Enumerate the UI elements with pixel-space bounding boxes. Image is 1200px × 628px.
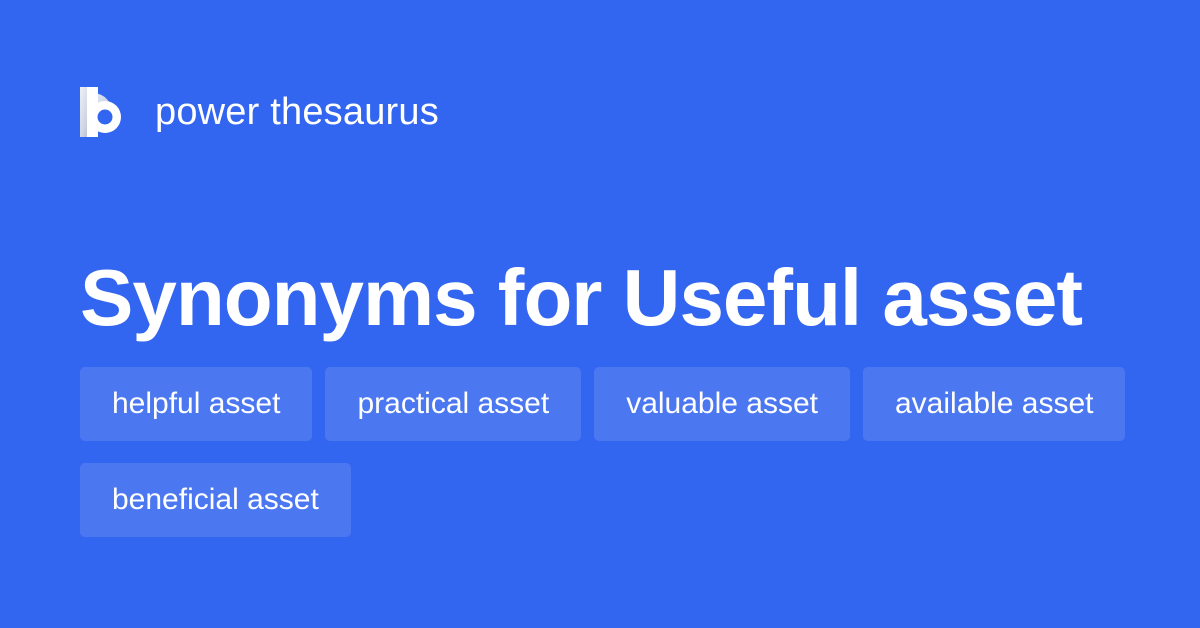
synonym-chip-list: helpful asset practical asset valuable a… bbox=[80, 367, 1130, 537]
synonym-chip[interactable]: valuable asset bbox=[594, 367, 850, 441]
page-title: Synonyms for Useful asset bbox=[80, 250, 1140, 346]
power-thesaurus-b-logo-icon bbox=[80, 87, 126, 137]
synonym-chip[interactable]: available asset bbox=[863, 367, 1125, 441]
page-root: power thesaurus Synonyms for Useful asse… bbox=[0, 0, 1200, 628]
synonym-chip[interactable]: beneficial asset bbox=[80, 463, 351, 537]
synonym-chip[interactable]: helpful asset bbox=[80, 367, 312, 441]
brand-logo[interactable]: power thesaurus bbox=[80, 83, 439, 141]
synonym-chip[interactable]: practical asset bbox=[325, 367, 581, 441]
brand-name: power thesaurus bbox=[155, 93, 439, 131]
